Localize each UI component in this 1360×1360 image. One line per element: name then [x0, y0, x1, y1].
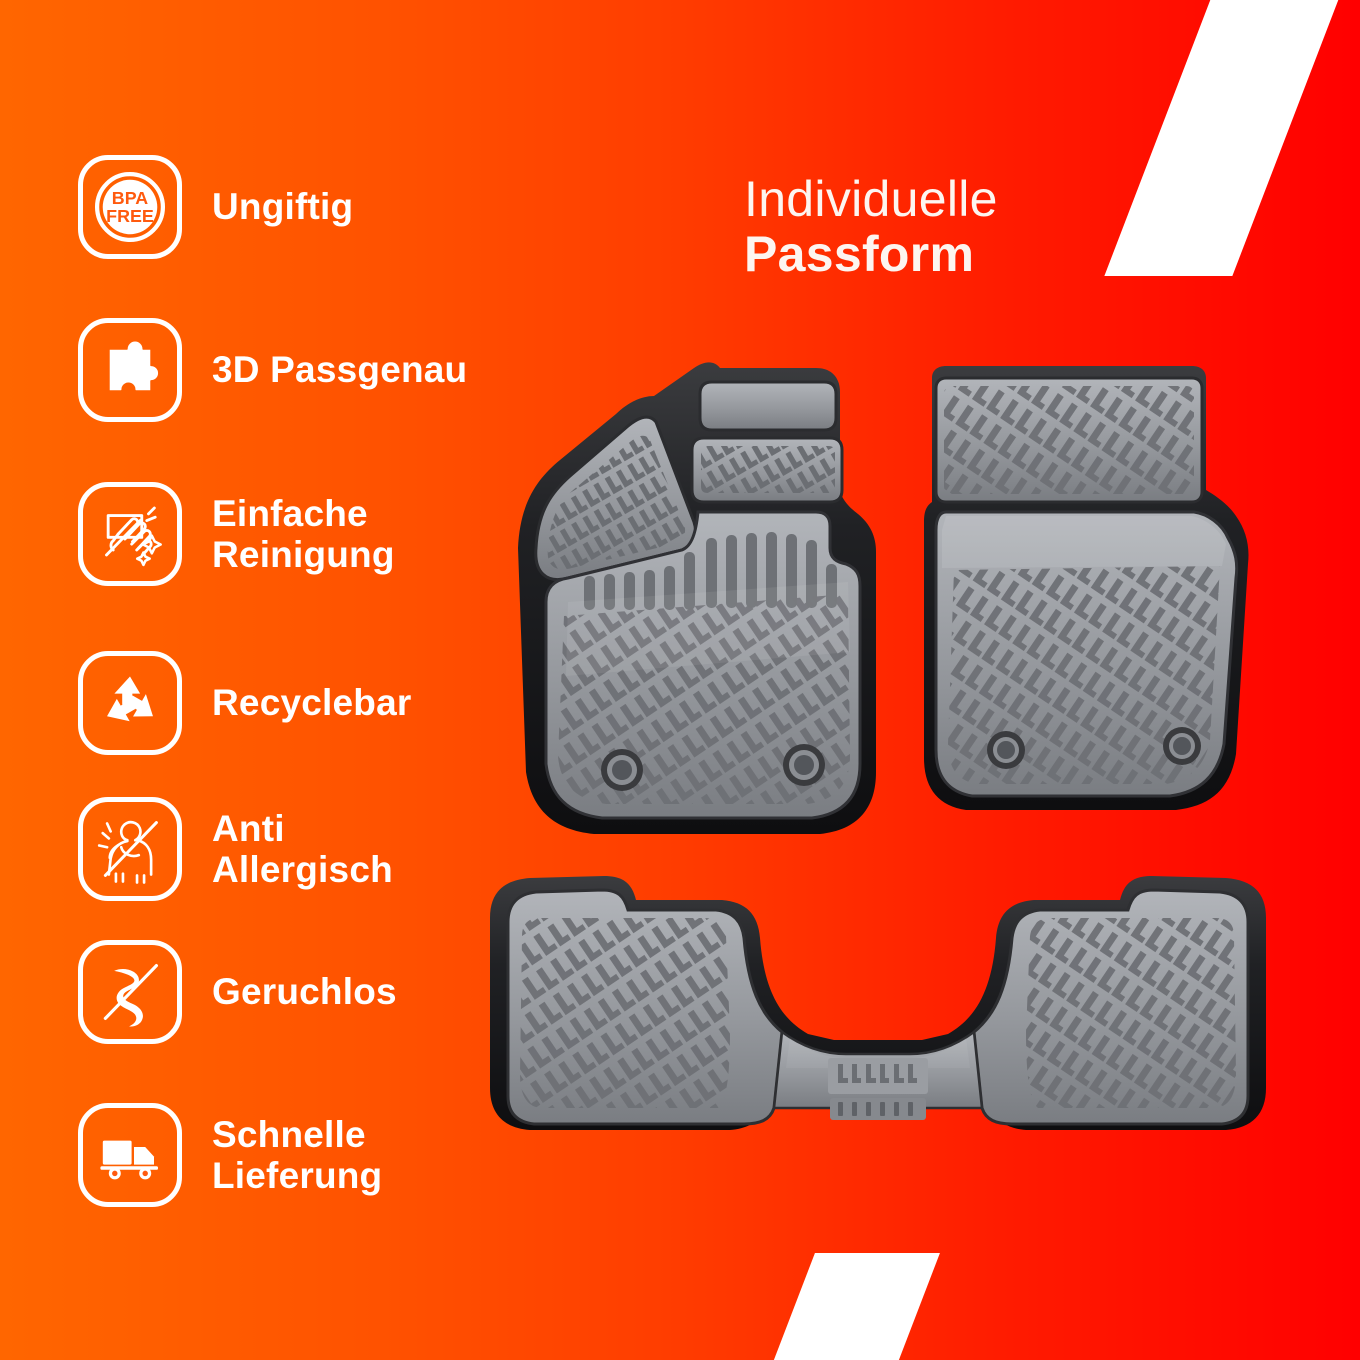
- easy-cleaning-icon: [78, 482, 182, 586]
- feature-label: Geruchlos: [212, 971, 397, 1012]
- feature-label: Recyclebar: [212, 682, 411, 723]
- feature-item-recyclebar: Recyclebar: [78, 651, 411, 755]
- feature-label: Einfache Reinigung: [212, 493, 395, 576]
- feature-list: BPA FREE Ungiftig 3D Passgenau: [0, 0, 520, 1360]
- product-image-group: [470, 340, 1310, 1180]
- fast-delivery-truck-icon: [78, 1103, 182, 1207]
- feature-label: Schnelle Lieferung: [212, 1114, 382, 1197]
- feature-item-ungiftig: BPA FREE Ungiftig: [78, 155, 353, 259]
- feature-label: Anti Allergisch: [212, 808, 393, 891]
- promo-banner: Individuelle Passform BPA FREE Ungiftig: [0, 0, 1360, 1360]
- feature-item-geruchlos: Geruchlos: [78, 940, 397, 1044]
- bpa-free-icon: BPA FREE: [78, 155, 182, 259]
- feature-item-3d-passgenau: 3D Passgenau: [78, 318, 467, 422]
- feature-label: 3D Passgenau: [212, 349, 467, 390]
- feature-item-einfache-reinigung: Einfache Reinigung: [78, 482, 395, 586]
- recycle-icon: [78, 651, 182, 755]
- odourless-icon: [78, 940, 182, 1044]
- page-title-line1: Individuelle: [744, 172, 998, 226]
- anti-allergic-icon: [78, 797, 182, 901]
- rear-bench-mat: [478, 862, 1278, 1152]
- page-title: Individuelle Passform: [744, 172, 998, 282]
- feature-item-schnelle-lieferung: Schnelle Lieferung: [78, 1103, 382, 1207]
- puzzle-piece-icon: [78, 318, 182, 422]
- front-passenger-mat: [910, 362, 1260, 852]
- svg-text:FREE: FREE: [106, 206, 154, 226]
- decorative-slash-bottom-right: [765, 1253, 940, 1360]
- feature-label: Ungiftig: [212, 186, 353, 227]
- page-title-line2: Passform: [744, 226, 998, 282]
- front-driver-mat: [498, 352, 898, 862]
- feature-item-anti-allergisch: Anti Allergisch: [78, 797, 393, 901]
- decorative-slash-top-right: [1104, 0, 1343, 276]
